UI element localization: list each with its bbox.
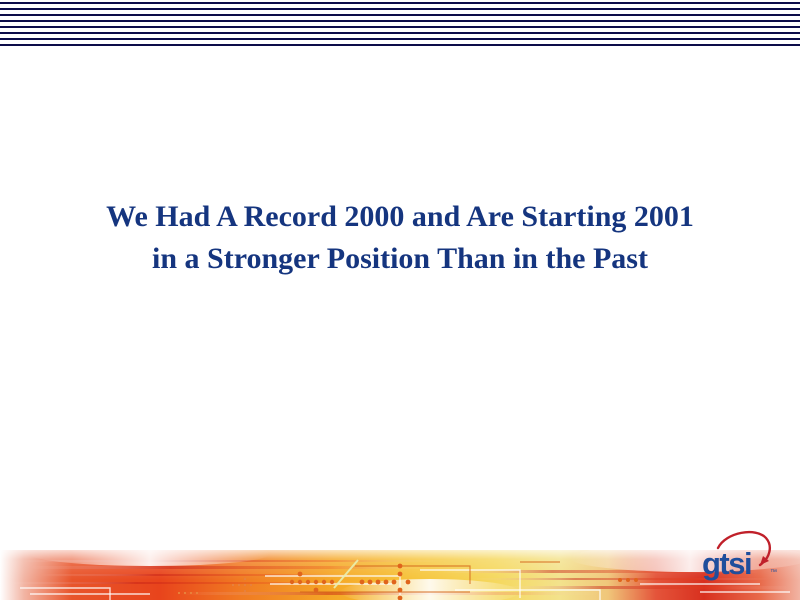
top-stripe-cap — [0, 0, 800, 2]
logo-wordmark: gtsi — [702, 546, 751, 581]
title-line-2: in a Stronger Position Than in the Past — [40, 238, 760, 280]
circuit-graphic — [0, 540, 800, 600]
gtsi-logo-graphic: gtsi ™ — [700, 528, 786, 584]
slide-canvas: We Had A Record 2000 and Are Starting 20… — [0, 0, 800, 600]
top-stripe-band — [0, 0, 800, 46]
logo-trademark: ™ — [770, 569, 777, 576]
slide-title: We Had A Record 2000 and Are Starting 20… — [40, 196, 760, 280]
gtsi-logo: gtsi ™ — [700, 528, 786, 584]
title-line-1: We Had A Record 2000 and Are Starting 20… — [40, 196, 760, 238]
bottom-decor-band — [0, 540, 800, 600]
